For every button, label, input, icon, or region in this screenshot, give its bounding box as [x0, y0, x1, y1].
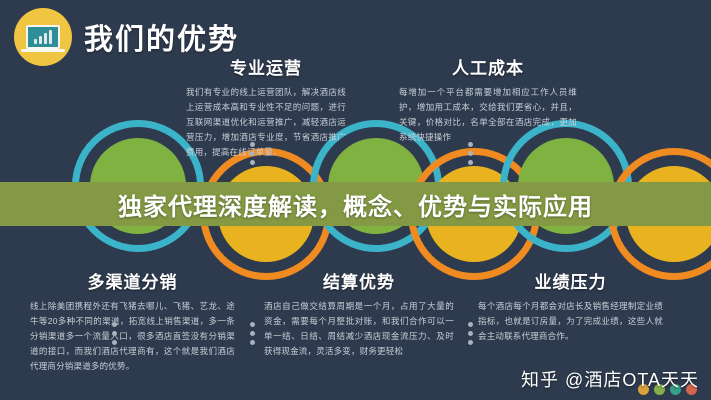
card-settlement-advantage: 结算优势 酒店自己做交结算周期是一个月，占用了大量的资金，需要每个月整批对账，和…: [264, 268, 454, 359]
dot-separator: [468, 322, 473, 345]
chart-bar-1: [34, 39, 37, 44]
dot: [112, 322, 117, 327]
dot: [250, 340, 255, 345]
banner-title: 独家代理深度解读，概念、优势与实际应用: [0, 182, 711, 226]
dot-separator: [250, 142, 255, 165]
card-title: 人工成本: [399, 54, 577, 79]
card-professional-operations: 专业运营 我们有专业的线上运营团队，解决酒店线上运营成本高和专业性不足的问题，进…: [186, 54, 346, 159]
card-title: 结算优势: [264, 268, 454, 293]
dot: [468, 322, 473, 327]
card-body: 每个酒店每个月都会对店长及销售经理制定业绩指标，也就是订房量，为了完成业绩，这些…: [478, 299, 663, 344]
card-body: 酒店自己做交结算周期是一个月，占用了大量的资金，需要每个月整批对账，和我们合作可…: [264, 299, 454, 359]
slide-canvas: 独家代理深度解读，概念、优势与实际应用 我们的优势 专业运营 我们有专业的线上运…: [0, 0, 711, 400]
dot: [250, 151, 255, 156]
card-labor-cost: 人工成本 每增加一个平台都需要增加相应工作人员维护，增加用工成本，交给我们更省心…: [399, 54, 577, 145]
monitor-screen-icon: [26, 25, 60, 49]
dot: [112, 331, 117, 336]
dot-separator: [250, 322, 255, 345]
bar-chart-monitor-icon: [14, 8, 72, 66]
dot: [250, 160, 255, 165]
dot: [250, 322, 255, 327]
dot: [250, 142, 255, 147]
dot: [468, 151, 473, 156]
card-title: 多渠道分销: [30, 268, 235, 293]
monitor-stand-icon: [21, 49, 65, 52]
dot: [468, 331, 473, 336]
dot: [468, 142, 473, 147]
card-multi-channel-distribution: 多渠道分销 线上除美团携程外还有飞猪去哪儿、飞猪、艺龙、途牛等20多种不同的渠道…: [30, 268, 235, 373]
page-title: 我们的优势: [84, 16, 239, 58]
card-title: 业绩压力: [478, 268, 663, 293]
chart-bar-4: [49, 30, 52, 44]
dot: [468, 160, 473, 165]
card-body: 线上除美团携程外还有飞猪去哪儿、飞猪、艺龙、途牛等20多种不同的渠道，拓宽线上销…: [30, 299, 235, 373]
card-performance-pressure: 业绩压力 每个酒店每个月都会对店长及销售经理制定业绩指标，也就是订房量，为了完成…: [478, 268, 663, 344]
dot-separator: [112, 322, 117, 345]
dot-separator: [468, 142, 473, 165]
watermark: 知乎 @酒店OTA天天: [521, 366, 699, 392]
card-body: 我们有专业的线上运营团队，解决酒店线上运营成本高和专业性不足的问题，进行互联网渠…: [186, 85, 346, 159]
dot: [468, 340, 473, 345]
dot: [250, 331, 255, 336]
chart-bar-2: [39, 36, 42, 44]
card-body: 每增加一个平台都需要增加相应工作人员维护，增加用工成本，交给我们更省心，并且，关…: [399, 85, 577, 145]
dot: [112, 340, 117, 345]
chart-bar-3: [44, 33, 47, 44]
header: 我们的优势: [14, 8, 239, 66]
